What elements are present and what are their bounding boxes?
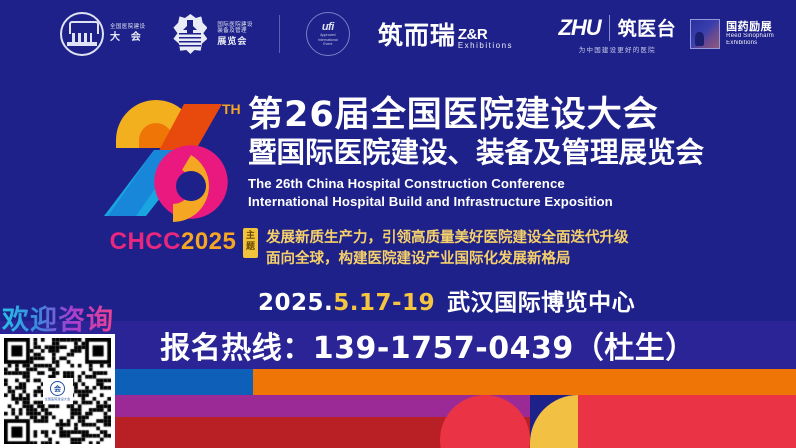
theme-block: 主题 发展新质生产力，引领高质量美好医院建设全面迭代升级 面向全球，构建医院建设…	[243, 228, 629, 271]
welcome-text: 欢迎咨询	[0, 298, 114, 337]
expo-seal-logo: 国际医院建设 装备及管理 展览会	[167, 11, 252, 57]
ufi-mark: ufi	[322, 21, 334, 33]
conference-seal-logo: 全国医院建设 大 会	[60, 12, 145, 56]
zhu-mark: ZHU	[558, 15, 600, 41]
expo-line2: 装备及管理	[217, 28, 252, 34]
reed-artwork-icon	[690, 19, 720, 49]
hotline-bar: 报名热线：139-1757-0439（杜生）	[0, 321, 796, 369]
reed-english-line2: Exhibitions	[726, 40, 774, 47]
ufi-approved-icon: ufi Approved International Event	[306, 12, 350, 56]
event-year: 2025.	[258, 290, 333, 316]
organizer-logos: 全国医院建设 大 会 国际医院建设 装备及管理 展览会 ufi Approved	[60, 11, 513, 57]
shape-red-right	[578, 395, 796, 448]
svg-text:TH: TH	[222, 101, 241, 117]
zr-exhibitions-logo: 筑而瑞 Z&R Exhibitions	[378, 16, 513, 52]
qr-center-logo-icon: 会 全国医院建设大会	[43, 378, 73, 404]
title-block: 第26届全国医院建设大会 暨国际医院建设、装备及管理展览会 The 26th C…	[248, 96, 708, 210]
conference-poster: 全国医院建设 大 会 国际医院建设 装备及管理 展览会 ufi Approved	[0, 0, 796, 448]
logo-divider	[279, 15, 280, 53]
zr-english-sub: Exhibitions	[458, 42, 513, 50]
zhu-divider	[609, 15, 610, 41]
english-title-line1: The 26th China Hospital Construction Con…	[248, 175, 708, 192]
hospital-building-seal-icon	[60, 12, 104, 56]
zhu-slogan: 为中国建设更好的医院	[579, 44, 656, 54]
english-title-line2: International Hospital Build and Infrast…	[248, 193, 708, 210]
page-subtitle: 暨国际医院建设、装备及管理展览会	[248, 136, 708, 170]
band-blue	[110, 369, 253, 395]
reed-english-line1: Reed Sinopharm	[726, 33, 774, 40]
media-partner-logos: ZHU 筑医台 为中国建设更好的医院 国药励展 Reed Sinopharm E…	[558, 14, 774, 54]
zr-chinese-name: 筑而瑞	[378, 16, 456, 52]
expo-line3: 展览会	[217, 36, 252, 46]
zhuyitai-logo: ZHU 筑医台 为中国建设更好的医院	[558, 14, 676, 54]
ufi-sub3: Event	[323, 42, 332, 46]
conference-seal-big-text: 大 会	[110, 32, 145, 44]
zr-english-mark: Z&R	[458, 27, 513, 42]
partner-logo-bar: 全国医院建设 大 会 国际医院建设 装备及管理 展览会 ufi Approved	[0, 0, 796, 68]
zhu-name: 筑医台	[618, 14, 677, 41]
snowflake-expo-icon	[167, 11, 213, 57]
event-date-venue: 2025.5.17-19武汉国际博览中心	[258, 283, 635, 317]
reed-chinese-name: 国药励展	[726, 21, 774, 33]
qr-center-label: 全国医院建设大会	[45, 397, 71, 401]
theme-badge: 主题	[243, 228, 258, 258]
theme-line2: 面向全球，构建医院建设产业国际化发展新格局	[266, 249, 629, 270]
conference-seal-small-text: 全国医院建设	[110, 24, 145, 30]
qr-code[interactable]: 会 全国医院建设大会	[0, 334, 115, 448]
event-dates: 5.17-19	[333, 290, 435, 316]
reed-sinopharm-logo: 国药励展 Reed Sinopharm Exhibitions	[690, 19, 774, 49]
theme-line1: 发展新质生产力，引领高质量美好医院建设全面迭代升级	[266, 228, 629, 249]
chcc-year: 2025	[181, 228, 236, 255]
page-title: 第26届全国医院建设大会	[248, 96, 708, 135]
event-venue: 武汉国际博览中心	[447, 290, 635, 316]
decorative-color-bands	[0, 369, 796, 448]
hotline-text: 报名热线：139-1757-0439（杜生）	[100, 323, 696, 367]
chcc-letters: CHCC	[110, 228, 181, 255]
chcc-brand: CHCC2025	[98, 228, 248, 256]
qr-center-mark: 会	[54, 384, 61, 394]
anniversary-26-logo: TH	[98, 88, 248, 228]
